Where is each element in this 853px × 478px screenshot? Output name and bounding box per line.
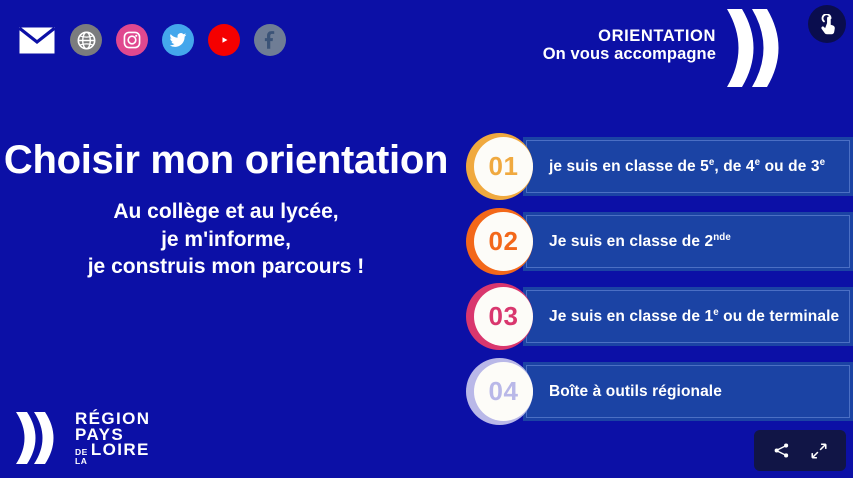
share-button[interactable] bbox=[771, 441, 791, 461]
menu-item-01-card[interactable]: je suis en classe de 5e, de 4e ou de 3e bbox=[523, 137, 853, 196]
menu-item-04-disc: 04 bbox=[474, 362, 533, 421]
menu-item-02-disc: 02 bbox=[474, 212, 533, 271]
menu-item-04-label: Boîte à outils régionale bbox=[527, 383, 722, 401]
fullscreen-button[interactable] bbox=[809, 441, 829, 461]
slide-headline-block: Choisir mon orientation Au collège et au… bbox=[0, 140, 452, 281]
menu-item-04-card[interactable]: Boîte à outils régionale bbox=[523, 362, 853, 421]
menu-item-02-number: 02 bbox=[489, 226, 519, 257]
region-logo: RÉGION PAYS DE LA LOIRE bbox=[14, 411, 150, 466]
interaction-hint-button[interactable] bbox=[808, 5, 846, 43]
fullscreen-icon bbox=[810, 442, 828, 460]
youtube-icon bbox=[215, 33, 234, 47]
menu-item-02[interactable]: Je suis en classe de 2nde 02 bbox=[466, 208, 853, 275]
menu-item-04[interactable]: Boîte à outils régionale 04 bbox=[466, 358, 853, 425]
region-logo-chevron-icon bbox=[14, 411, 64, 465]
menu-item-01-bullet: 01 bbox=[466, 133, 533, 200]
facebook-icon bbox=[261, 31, 279, 49]
hand-tap-icon bbox=[817, 14, 838, 35]
social-links-bar bbox=[18, 24, 286, 56]
menu-item-02-bullet: 02 bbox=[466, 208, 533, 275]
menu-item-03-disc: 03 bbox=[474, 287, 533, 346]
region-logo-wordmark: RÉGION PAYS DE LA LOIRE bbox=[75, 411, 150, 466]
social-link-facebook[interactable] bbox=[254, 24, 286, 56]
social-link-instagram[interactable] bbox=[116, 24, 148, 56]
menu-item-02-card[interactable]: Je suis en classe de 2nde bbox=[523, 212, 853, 271]
social-link-website[interactable] bbox=[70, 24, 102, 56]
menu-item-04-bullet: 04 bbox=[466, 358, 533, 425]
header-title: ORIENTATION bbox=[543, 27, 716, 45]
page-subtitle: Au collège et au lycée, je m'informe, je… bbox=[0, 198, 452, 281]
menu-item-02-label: Je suis en classe de 2nde bbox=[527, 233, 731, 251]
menu-item-03-label: Je suis en classe de 1e ou de terminale bbox=[527, 308, 839, 326]
header-brand-text: ORIENTATION On vous accompagne bbox=[543, 27, 716, 70]
region-chevron-icon bbox=[724, 8, 779, 88]
menu-item-03-number: 03 bbox=[489, 301, 519, 332]
twitter-icon bbox=[169, 31, 187, 49]
menu-item-01-disc: 01 bbox=[474, 137, 533, 196]
header-subtitle: On vous accompagne bbox=[543, 45, 716, 63]
player-controls bbox=[754, 430, 846, 471]
orientation-menu: je suis en classe de 5e, de 4e ou de 3e … bbox=[466, 133, 853, 433]
menu-item-01[interactable]: je suis en classe de 5e, de 4e ou de 3e … bbox=[466, 133, 853, 200]
instagram-icon bbox=[123, 31, 141, 49]
header-brand: ORIENTATION On vous accompagne bbox=[543, 8, 779, 88]
page-title: Choisir mon orientation bbox=[0, 140, 452, 180]
logo-line-dela: DE LA bbox=[75, 448, 88, 466]
menu-item-03-bullet: 03 bbox=[466, 283, 533, 350]
social-link-mail[interactable] bbox=[18, 24, 56, 56]
mail-icon bbox=[19, 27, 55, 54]
globe-icon bbox=[77, 31, 96, 50]
share-icon bbox=[773, 442, 790, 459]
menu-item-03[interactable]: Je suis en classe de 1e ou de terminale … bbox=[466, 283, 853, 350]
logo-line-loire: LOIRE bbox=[91, 442, 150, 458]
menu-item-03-card[interactable]: Je suis en classe de 1e ou de terminale bbox=[523, 287, 853, 346]
menu-item-04-number: 04 bbox=[489, 376, 519, 407]
social-link-twitter[interactable] bbox=[162, 24, 194, 56]
menu-item-01-label: je suis en classe de 5e, de 4e ou de 3e bbox=[527, 158, 825, 176]
presentation-slide: ORIENTATION On vous accompagne Choisir m… bbox=[0, 0, 853, 478]
social-link-youtube[interactable] bbox=[208, 24, 240, 56]
menu-item-01-number: 01 bbox=[489, 151, 519, 182]
